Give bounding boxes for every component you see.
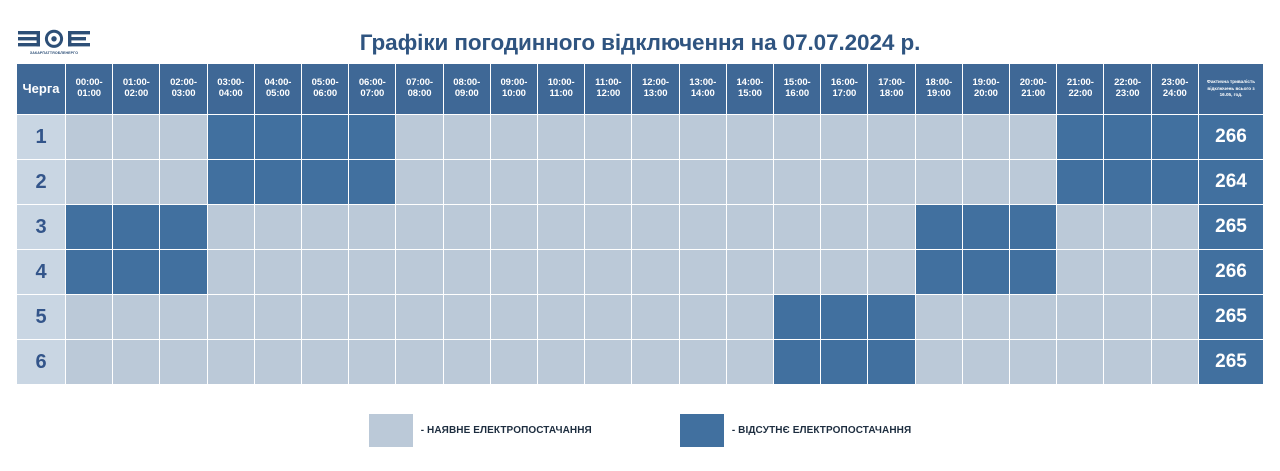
column-header-hour-6: 05:00-06:00 xyxy=(302,64,348,114)
page-header: ЗАКАРПАТТЯОБЛЕНЕРГО Графіки погодинного … xyxy=(0,0,1280,64)
schedule-cell-q2-h15-on xyxy=(727,160,773,204)
schedule-cell-q5-h6-on xyxy=(302,295,348,339)
schedule-cell-q5-h23-on xyxy=(1104,295,1150,339)
schedule-cell-q3-h24-on xyxy=(1152,205,1198,249)
schedule-cell-q4-h2-off xyxy=(113,250,159,294)
schedule-cell-q1-h11-on xyxy=(538,115,584,159)
schedule-cell-q3-h18-on xyxy=(868,205,914,249)
table-row: 1266 xyxy=(17,115,1263,159)
schedule-cell-q4-h18-on xyxy=(868,250,914,294)
schedule-cell-q2-h11-on xyxy=(538,160,584,204)
schedule-cell-q1-h1-on xyxy=(66,115,112,159)
legend-swatch-off xyxy=(680,414,724,447)
schedule-cell-q2-h17-on xyxy=(821,160,867,204)
schedule-cell-q3-h6-on xyxy=(302,205,348,249)
column-header-hour-22: 21:00-22:00 xyxy=(1057,64,1103,114)
schedule-cell-q1-h13-on xyxy=(632,115,678,159)
schedule-cell-q3-h4-on xyxy=(208,205,254,249)
total-hours-q6: 265 xyxy=(1199,340,1263,384)
schedule-cell-q3-h12-on xyxy=(585,205,631,249)
total-hours-q4: 266 xyxy=(1199,250,1263,294)
schedule-cell-q3-h5-on xyxy=(255,205,301,249)
schedule-cell-q2-h16-on xyxy=(774,160,820,204)
schedule-cell-q6-h13-on xyxy=(632,340,678,384)
schedule-cell-q4-h6-on xyxy=(302,250,348,294)
schedule-cell-q2-h24-off xyxy=(1152,160,1198,204)
schedule-cell-q1-h20-on xyxy=(963,115,1009,159)
schedule-cell-q5-h16-off xyxy=(774,295,820,339)
schedule-cell-q5-h3-on xyxy=(160,295,206,339)
outage-schedule-page: ЗАКАРПАТТЯОБЛЕНЕРГО Графіки погодинного … xyxy=(0,0,1280,471)
legend: - НАЯВНЕ ЕЛЕКТРОПОСТАЧАННЯ- ВІДСУТНЄ ЕЛЕ… xyxy=(0,414,1280,447)
total-hours-q5: 265 xyxy=(1199,295,1263,339)
schedule-cell-q4-h8-on xyxy=(396,250,442,294)
schedule-cell-q4-h16-on xyxy=(774,250,820,294)
column-header-hour-12: 11:00-12:00 xyxy=(585,64,631,114)
schedule-cell-q6-h8-on xyxy=(396,340,442,384)
column-header-hour-24: 23:00-24:00 xyxy=(1152,64,1198,114)
schedule-cell-q3-h19-off xyxy=(916,205,962,249)
schedule-cell-q3-h14-on xyxy=(680,205,726,249)
legend-item-off: - ВІДСУТНЄ ЕЛЕКТРОПОСТАЧАННЯ xyxy=(680,414,911,447)
schedule-cell-q2-h5-off xyxy=(255,160,301,204)
schedule-cell-q1-h4-off xyxy=(208,115,254,159)
schedule-cell-q3-h10-on xyxy=(491,205,537,249)
schedule-cell-q6-h15-on xyxy=(727,340,773,384)
column-header-hour-8: 07:00-08:00 xyxy=(396,64,442,114)
schedule-cell-q6-h20-on xyxy=(963,340,1009,384)
schedule-cell-q1-h18-on xyxy=(868,115,914,159)
schedule-cell-q6-h6-on xyxy=(302,340,348,384)
schedule-cell-q4-h24-on xyxy=(1152,250,1198,294)
column-header-hour-9: 08:00-09:00 xyxy=(444,64,490,114)
schedule-cell-q4-h11-on xyxy=(538,250,584,294)
schedule-cell-q2-h14-on xyxy=(680,160,726,204)
schedule-cell-q1-h17-on xyxy=(821,115,867,159)
schedule-cell-q5-h13-on xyxy=(632,295,678,339)
schedule-cell-q5-h20-on xyxy=(963,295,1009,339)
schedule-cell-q6-h3-on xyxy=(160,340,206,384)
schedule-cell-q3-h22-on xyxy=(1057,205,1103,249)
column-header-hour-23: 22:00-23:00 xyxy=(1104,64,1150,114)
schedule-cell-q4-h3-off xyxy=(160,250,206,294)
schedule-cell-q5-h14-on xyxy=(680,295,726,339)
schedule-cell-q2-h7-off xyxy=(349,160,395,204)
schedule-cell-q2-h6-off xyxy=(302,160,348,204)
queue-number-6: 6 xyxy=(17,340,65,384)
schedule-cell-q2-h13-on xyxy=(632,160,678,204)
schedule-cell-q5-h9-on xyxy=(444,295,490,339)
schedule-cell-q1-h23-off xyxy=(1104,115,1150,159)
queue-number-1: 1 xyxy=(17,115,65,159)
schedule-cell-q2-h19-on xyxy=(916,160,962,204)
schedule-cell-q2-h10-on xyxy=(491,160,537,204)
total-hours-q2: 264 xyxy=(1199,160,1263,204)
total-hours-q1: 266 xyxy=(1199,115,1263,159)
schedule-cell-q6-h5-on xyxy=(255,340,301,384)
outage-schedule-table: Черга 00:00-01:0001:00-02:0002:00-03:000… xyxy=(16,63,1264,385)
schedule-cell-q1-h14-on xyxy=(680,115,726,159)
schedule-cell-q3-h11-on xyxy=(538,205,584,249)
schedule-cell-q2-h8-on xyxy=(396,160,442,204)
column-header-hour-15: 14:00-15:00 xyxy=(727,64,773,114)
schedule-cell-q3-h20-off xyxy=(963,205,1009,249)
schedule-cell-q2-h23-off xyxy=(1104,160,1150,204)
column-header-hour-11: 10:00-11:00 xyxy=(538,64,584,114)
column-header-hour-4: 03:00-04:00 xyxy=(208,64,254,114)
queue-number-4: 4 xyxy=(17,250,65,294)
schedule-cell-q6-h14-on xyxy=(680,340,726,384)
schedule-cell-q1-h19-on xyxy=(916,115,962,159)
schedule-cell-q1-h9-on xyxy=(444,115,490,159)
schedule-cell-q3-h21-off xyxy=(1010,205,1056,249)
schedule-cell-q4-h10-on xyxy=(491,250,537,294)
schedule-cell-q5-h1-on xyxy=(66,295,112,339)
schedule-cell-q5-h5-on xyxy=(255,295,301,339)
schedule-cell-q3-h17-on xyxy=(821,205,867,249)
schedule-cell-q4-h15-on xyxy=(727,250,773,294)
schedule-cell-q4-h9-on xyxy=(444,250,490,294)
column-header-hour-18: 17:00-18:00 xyxy=(868,64,914,114)
schedule-cell-q3-h15-on xyxy=(727,205,773,249)
schedule-cell-q2-h20-on xyxy=(963,160,1009,204)
schedule-cell-q4-h19-off xyxy=(916,250,962,294)
schedule-cell-q1-h8-on xyxy=(396,115,442,159)
schedule-cell-q2-h2-on xyxy=(113,160,159,204)
schedule-cell-q6-h1-on xyxy=(66,340,112,384)
schedule-cell-q6-h2-on xyxy=(113,340,159,384)
schedule-cell-q6-h24-on xyxy=(1152,340,1198,384)
schedule-cell-q4-h22-on xyxy=(1057,250,1103,294)
schedule-cell-q1-h15-on xyxy=(727,115,773,159)
column-header-total: Фактична тривалість відключень всього з … xyxy=(1199,64,1263,114)
schedule-cell-q3-h13-on xyxy=(632,205,678,249)
column-header-hour-21: 20:00-21:00 xyxy=(1010,64,1056,114)
schedule-cell-q5-h10-on xyxy=(491,295,537,339)
schedule-cell-q1-h5-off xyxy=(255,115,301,159)
schedule-cell-q6-h11-on xyxy=(538,340,584,384)
column-header-hour-3: 02:00-03:00 xyxy=(160,64,206,114)
legend-label-on: - НАЯВНЕ ЕЛЕКТРОПОСТАЧАННЯ xyxy=(421,425,592,436)
column-header-hour-16: 15:00-16:00 xyxy=(774,64,820,114)
schedule-cell-q2-h9-on xyxy=(444,160,490,204)
schedule-cell-q4-h4-on xyxy=(208,250,254,294)
legend-label-off: - ВІДСУТНЄ ЕЛЕКТРОПОСТАЧАННЯ xyxy=(732,425,911,436)
schedule-cell-q1-h22-off xyxy=(1057,115,1103,159)
schedule-cell-q1-h12-on xyxy=(585,115,631,159)
schedule-cell-q3-h23-on xyxy=(1104,205,1150,249)
queue-number-3: 3 xyxy=(17,205,65,249)
schedule-cell-q1-h21-on xyxy=(1010,115,1056,159)
column-header-hour-13: 12:00-13:00 xyxy=(632,64,678,114)
schedule-cell-q4-h1-off xyxy=(66,250,112,294)
schedule-cell-q4-h17-on xyxy=(821,250,867,294)
schedule-cell-q1-h2-on xyxy=(113,115,159,159)
schedule-cell-q4-h23-on xyxy=(1104,250,1150,294)
schedule-cell-q2-h21-on xyxy=(1010,160,1056,204)
schedule-cell-q3-h2-off xyxy=(113,205,159,249)
schedule-cell-q4-h7-on xyxy=(349,250,395,294)
column-header-hour-5: 04:00-05:00 xyxy=(255,64,301,114)
schedule-cell-q6-h12-on xyxy=(585,340,631,384)
schedule-cell-q3-h8-on xyxy=(396,205,442,249)
schedule-cell-q6-h17-off xyxy=(821,340,867,384)
column-header-hour-10: 09:00-10:00 xyxy=(491,64,537,114)
schedule-cell-q5-h21-on xyxy=(1010,295,1056,339)
queue-number-2: 2 xyxy=(17,160,65,204)
table-head: Черга 00:00-01:0001:00-02:0002:00-03:000… xyxy=(17,64,1263,114)
table-row: 2264 xyxy=(17,160,1263,204)
schedule-cell-q1-h6-off xyxy=(302,115,348,159)
schedule-cell-q6-h19-on xyxy=(916,340,962,384)
table-row: 4266 xyxy=(17,250,1263,294)
schedule-cell-q6-h23-on xyxy=(1104,340,1150,384)
schedule-cell-q6-h7-on xyxy=(349,340,395,384)
column-header-hour-1: 00:00-01:00 xyxy=(66,64,112,114)
column-header-queue: Черга xyxy=(17,64,65,114)
column-header-hour-17: 16:00-17:00 xyxy=(821,64,867,114)
schedule-cell-q2-h3-on xyxy=(160,160,206,204)
schedule-cell-q1-h3-on xyxy=(160,115,206,159)
column-header-hour-14: 13:00-14:00 xyxy=(680,64,726,114)
legend-item-on: - НАЯВНЕ ЕЛЕКТРОПОСТАЧАННЯ xyxy=(369,414,592,447)
legend-swatch-on xyxy=(369,414,413,447)
schedule-cell-q1-h10-on xyxy=(491,115,537,159)
schedule-cell-q2-h1-on xyxy=(66,160,112,204)
schedule-cell-q5-h7-on xyxy=(349,295,395,339)
schedule-cell-q3-h9-on xyxy=(444,205,490,249)
schedule-cell-q6-h16-off xyxy=(774,340,820,384)
schedule-cell-q5-h17-off xyxy=(821,295,867,339)
schedule-cell-q1-h7-off xyxy=(349,115,395,159)
schedule-cell-q4-h12-on xyxy=(585,250,631,294)
schedule-cell-q5-h2-on xyxy=(113,295,159,339)
schedule-cell-q3-h16-on xyxy=(774,205,820,249)
table-body: 126622643265426652656265 xyxy=(17,115,1263,384)
table-header-row: Черга 00:00-01:0001:00-02:0002:00-03:000… xyxy=(17,64,1263,114)
schedule-cell-q5-h4-on xyxy=(208,295,254,339)
schedule-cell-q5-h11-on xyxy=(538,295,584,339)
schedule-cell-q1-h16-on xyxy=(774,115,820,159)
schedule-cell-q5-h15-on xyxy=(727,295,773,339)
schedule-cell-q4-h5-on xyxy=(255,250,301,294)
schedule-cell-q5-h18-off xyxy=(868,295,914,339)
column-header-hour-19: 18:00-19:00 xyxy=(916,64,962,114)
schedule-cell-q4-h21-off xyxy=(1010,250,1056,294)
schedule-cell-q6-h4-on xyxy=(208,340,254,384)
schedule-cell-q2-h4-off xyxy=(208,160,254,204)
schedule-cell-q2-h18-on xyxy=(868,160,914,204)
schedule-cell-q1-h24-off xyxy=(1152,115,1198,159)
page-title: Графіки погодинного відключення на 07.07… xyxy=(0,30,1280,56)
schedule-cell-q6-h9-on xyxy=(444,340,490,384)
table-row: 6265 xyxy=(17,340,1263,384)
schedule-cell-q3-h7-on xyxy=(349,205,395,249)
schedule-cell-q6-h10-on xyxy=(491,340,537,384)
schedule-cell-q2-h22-off xyxy=(1057,160,1103,204)
queue-number-5: 5 xyxy=(17,295,65,339)
column-header-hour-2: 01:00-02:00 xyxy=(113,64,159,114)
table-row: 3265 xyxy=(17,205,1263,249)
schedule-cell-q2-h12-on xyxy=(585,160,631,204)
schedule-cell-q4-h20-off xyxy=(963,250,1009,294)
schedule-cell-q6-h22-on xyxy=(1057,340,1103,384)
schedule-cell-q5-h24-on xyxy=(1152,295,1198,339)
schedule-cell-q6-h21-on xyxy=(1010,340,1056,384)
schedule-cell-q5-h22-on xyxy=(1057,295,1103,339)
total-hours-q3: 265 xyxy=(1199,205,1263,249)
schedule-cell-q3-h3-off xyxy=(160,205,206,249)
schedule-cell-q5-h8-on xyxy=(396,295,442,339)
table-row: 5265 xyxy=(17,295,1263,339)
column-header-hour-20: 19:00-20:00 xyxy=(963,64,1009,114)
schedule-cell-q3-h1-off xyxy=(66,205,112,249)
schedule-cell-q4-h13-on xyxy=(632,250,678,294)
schedule-cell-q5-h12-on xyxy=(585,295,631,339)
schedule-cell-q6-h18-off xyxy=(868,340,914,384)
schedule-cell-q4-h14-on xyxy=(680,250,726,294)
schedule-cell-q5-h19-on xyxy=(916,295,962,339)
column-header-hour-7: 06:00-07:00 xyxy=(349,64,395,114)
